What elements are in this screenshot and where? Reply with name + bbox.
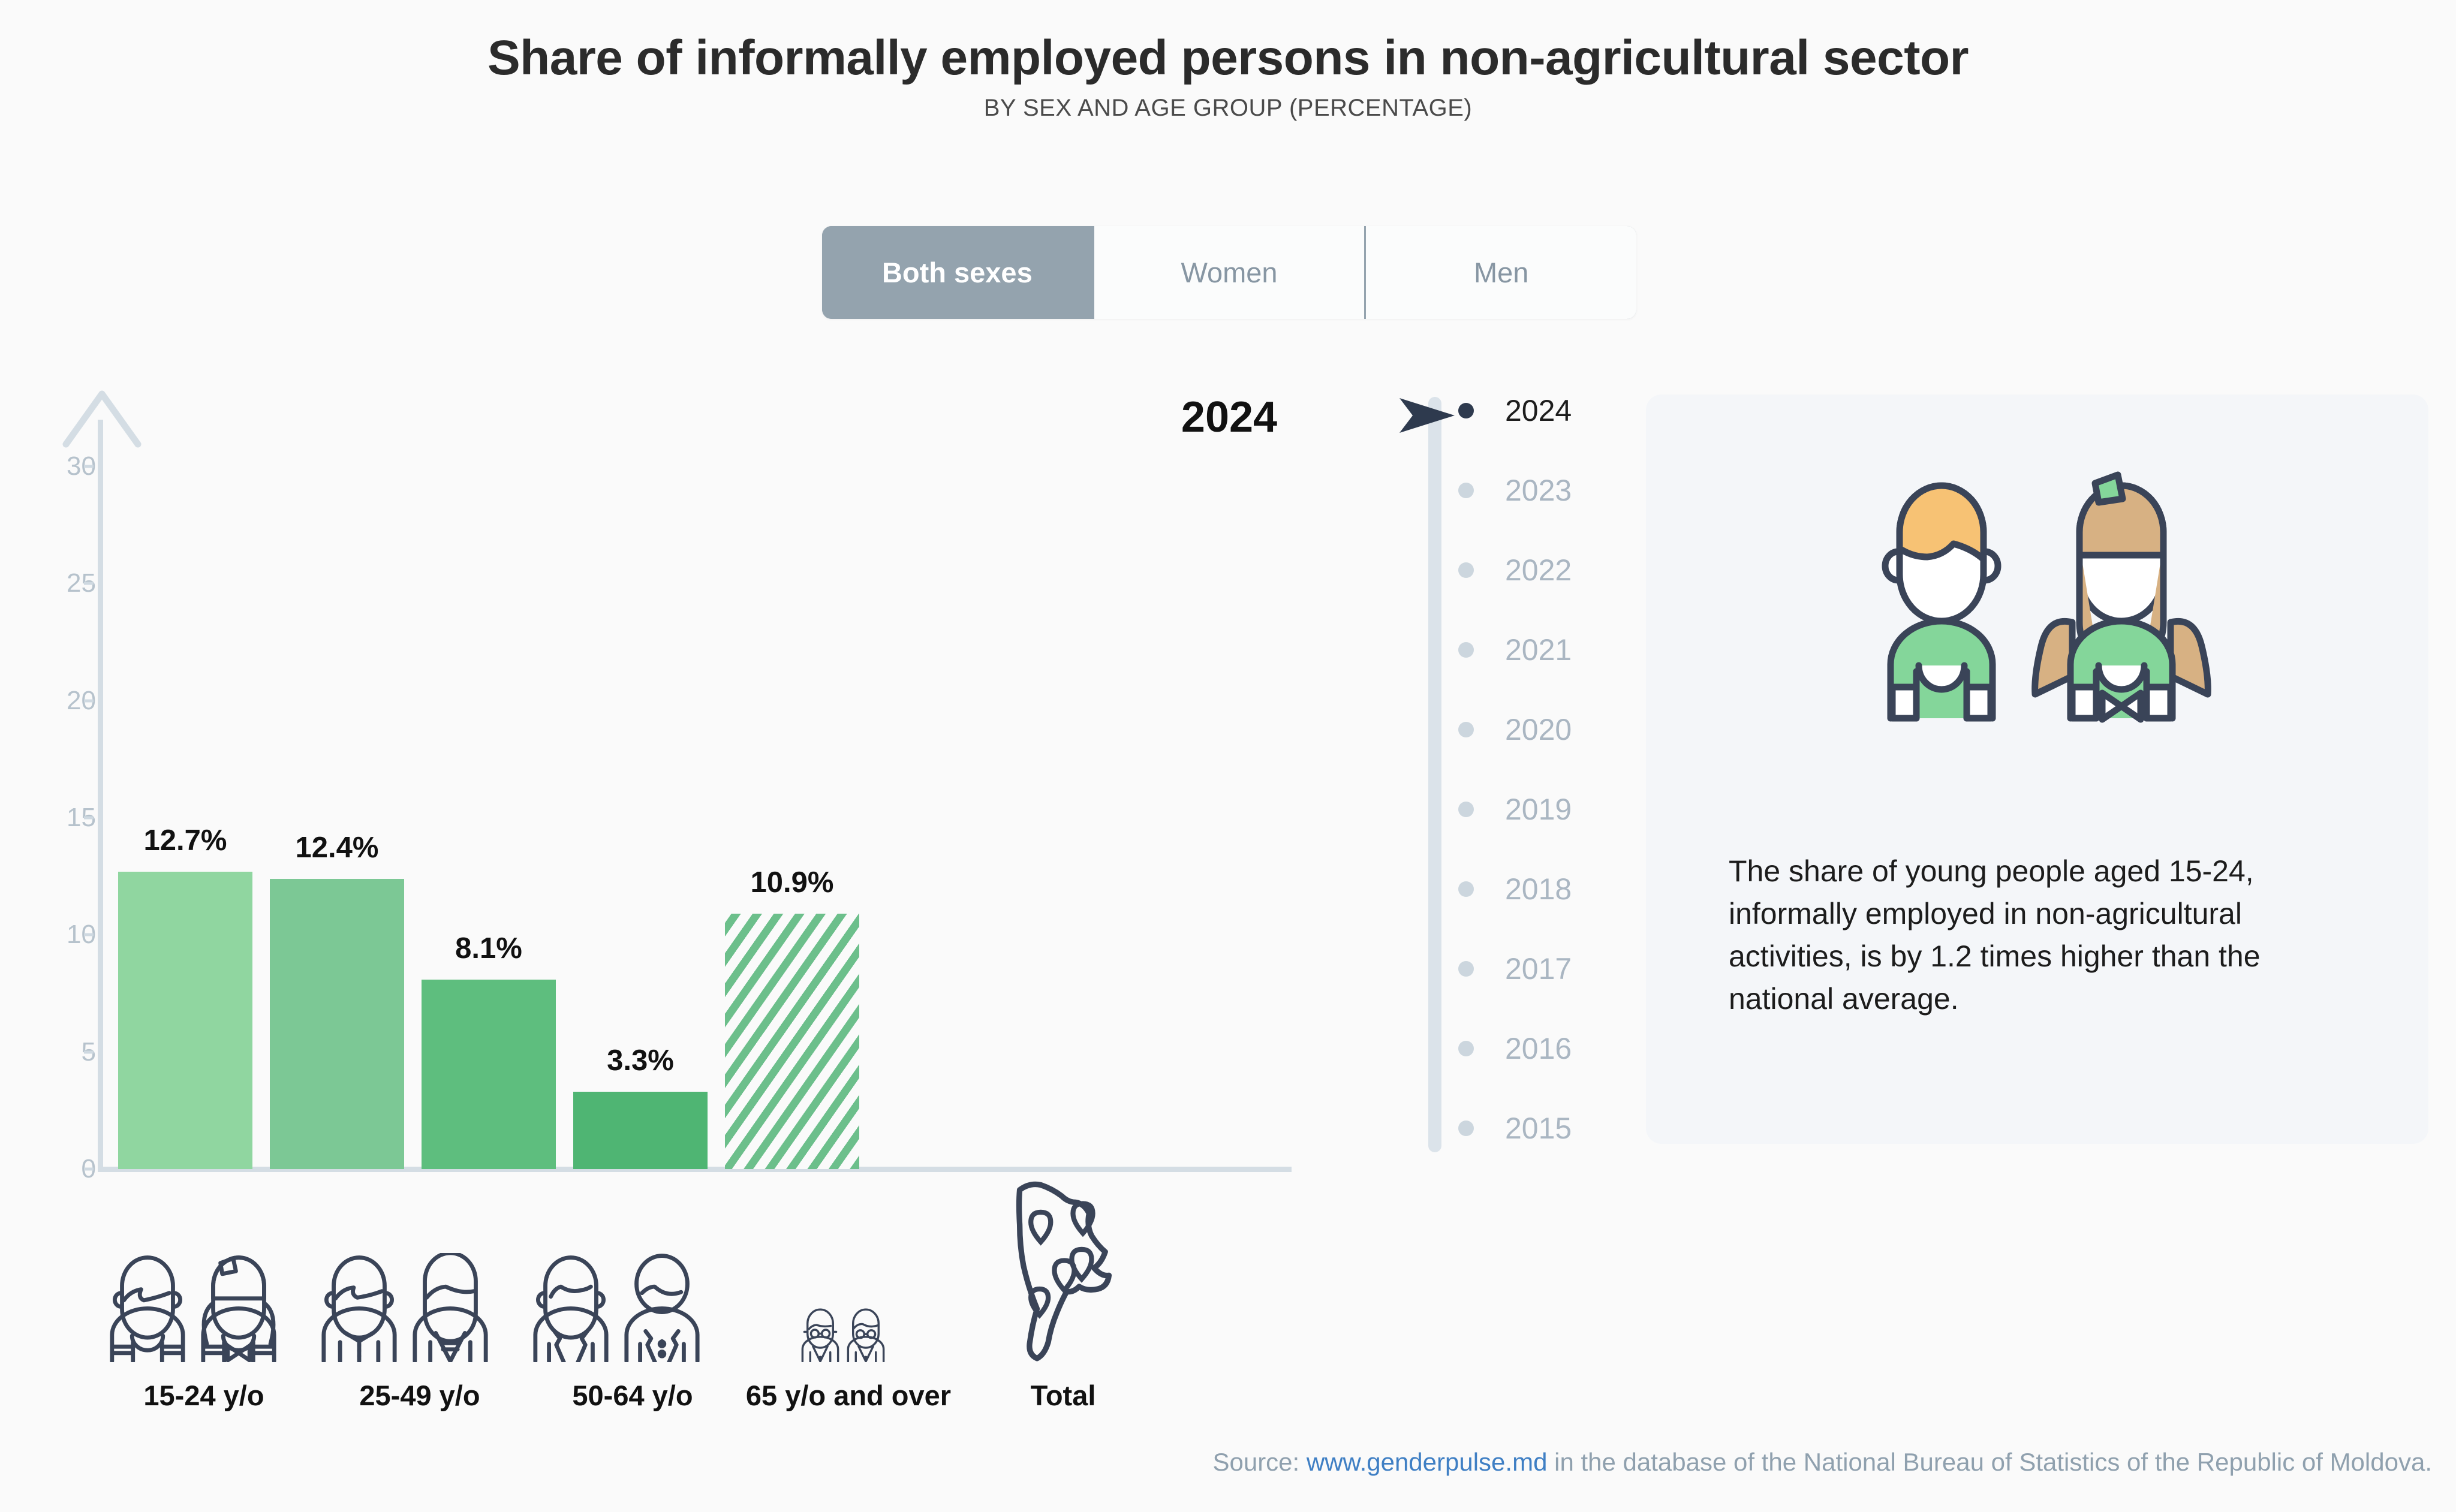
y-axis-tick-label: 30	[0, 451, 96, 481]
timeline-year-2024[interactable]: 2024	[1397, 390, 1655, 432]
y-axis-tick-mark	[84, 1050, 94, 1053]
y-axis-line	[98, 420, 103, 1171]
timeline-dot-icon	[1458, 1121, 1474, 1136]
y-axis-tick-label: 20	[0, 686, 96, 716]
bar-value-label: 8.1%	[455, 932, 522, 965]
timeline-dot-icon	[1458, 881, 1474, 897]
timeline-year-label: 2017	[1505, 951, 1572, 986]
timeline-year-label: 2024	[1505, 393, 1572, 428]
page-title: Share of informally employed persons in …	[0, 30, 2456, 86]
chart-page: Share of informally employed persons in …	[0, 0, 2456, 1512]
timeline-year-2021[interactable]: 2021	[1397, 629, 1655, 671]
timeline-dot-icon	[1458, 403, 1474, 418]
timeline-year-2015[interactable]: 2015	[1397, 1107, 1655, 1149]
info-panel-text: The share of young people aged 15-24, in…	[1729, 850, 2334, 1020]
bar-chart: 051015202530 12.7%12.4%8.1%3.3%10.9%	[0, 384, 1319, 1151]
bar[interactable]	[422, 980, 556, 1169]
source-suffix: in the database of the National Bureau o…	[1547, 1448, 2432, 1476]
category-label: Total	[883, 1379, 1243, 1412]
timeline-dot-icon	[1458, 802, 1474, 817]
timeline-year-2019[interactable]: 2019	[1397, 788, 1655, 830]
moldova-map-icon	[995, 1176, 1133, 1362]
timeline-year-2017[interactable]: 2017	[1397, 948, 1655, 990]
timeline-year-label: 2023	[1505, 473, 1572, 508]
y-axis-tick-label: 25	[0, 568, 96, 598]
bar-column[interactable]: 3.3%	[573, 420, 708, 1169]
category-labels: 15-24 y/o25-49 y/o50-64 y/o65 y/o and ov…	[0, 1379, 1319, 1421]
timeline-dot-icon	[1458, 1041, 1474, 1056]
tab-women[interactable]: Women	[1094, 226, 1367, 319]
bar-column[interactable]: 10.9%	[725, 420, 859, 1169]
timeline-year-label: 2015	[1505, 1111, 1572, 1146]
bar[interactable]	[725, 914, 859, 1169]
tab-both-sexes[interactable]: Both sexes	[822, 226, 1094, 319]
bar-value-label: 12.4%	[296, 831, 379, 865]
sex-filter-tabs: Both sexes Women Men	[822, 226, 1636, 319]
year-timeline: 2024202320222021202020192018201720162015	[1397, 384, 1655, 1163]
y-axis-tick-label: 5	[0, 1037, 96, 1067]
senior-couple-icon	[525, 1253, 708, 1362]
timeline-dot-icon	[1458, 642, 1474, 658]
bar-value-label: 12.7%	[144, 824, 227, 857]
timeline-year-label: 2019	[1505, 792, 1572, 827]
timeline-year-2022[interactable]: 2022	[1397, 549, 1655, 591]
y-axis-tick-label: 10	[0, 920, 96, 950]
y-axis-tick-mark	[84, 465, 94, 468]
timeline-year-label: 2022	[1505, 553, 1572, 588]
bar[interactable]	[573, 1092, 708, 1169]
timeline-year-2020[interactable]: 2020	[1397, 709, 1655, 751]
young-couple-icon	[102, 1253, 284, 1362]
page-subtitle: BY SEX AND AGE GROUP (PERCENTAGE)	[0, 95, 2456, 122]
bar-column[interactable]: 8.1%	[422, 420, 556, 1169]
timeline-year-label: 2016	[1505, 1031, 1572, 1066]
timeline-year-label: 2021	[1505, 632, 1572, 667]
source-link[interactable]: www.genderpulse.md	[1307, 1448, 1548, 1476]
timeline-dot-icon	[1458, 483, 1474, 498]
timeline-year-2023[interactable]: 2023	[1397, 469, 1655, 511]
timeline-year-label: 2020	[1505, 712, 1572, 747]
y-axis-tick-mark	[84, 582, 94, 585]
timeline-dot-icon	[1458, 562, 1474, 578]
bar[interactable]	[270, 879, 404, 1169]
y-axis-tick-mark	[84, 933, 94, 936]
timeline-dot-icon	[1458, 961, 1474, 977]
y-axis-tick-mark	[84, 699, 94, 702]
y-axis-tick-mark	[84, 817, 94, 820]
y-axis-tick-label: 0	[0, 1154, 96, 1184]
bar-value-label: 3.3%	[607, 1044, 674, 1077]
bar-column[interactable]: 12.4%	[270, 420, 404, 1169]
timeline-year-2016[interactable]: 2016	[1397, 1028, 1655, 1070]
info-panel: The share of young people aged 15-24, in…	[1646, 394, 2428, 1144]
boy-and-girl-illustration-icon	[1828, 442, 2247, 724]
timeline-dot-icon	[1458, 722, 1474, 737]
bar-series: 12.7%12.4%8.1%3.3%10.9%	[103, 420, 1290, 1169]
tab-men[interactable]: Men	[1366, 226, 1636, 319]
elderly-couple-icon	[797, 1307, 889, 1362]
y-axis-tick-label: 15	[0, 803, 96, 833]
y-axis-tick-mark	[84, 1168, 94, 1171]
category-icons	[0, 1193, 1319, 1367]
bar-value-label: 10.9%	[751, 866, 834, 899]
bar-column[interactable]: 12.7%	[118, 420, 252, 1169]
adult-couple-icon	[314, 1253, 496, 1362]
source-prefix: Source:	[1212, 1448, 1306, 1476]
timeline-year-2018[interactable]: 2018	[1397, 868, 1655, 910]
timeline-year-label: 2018	[1505, 872, 1572, 906]
bar[interactable]	[118, 872, 252, 1169]
source-footer: Source: www.genderpulse.md in the databa…	[0, 1448, 2456, 1477]
